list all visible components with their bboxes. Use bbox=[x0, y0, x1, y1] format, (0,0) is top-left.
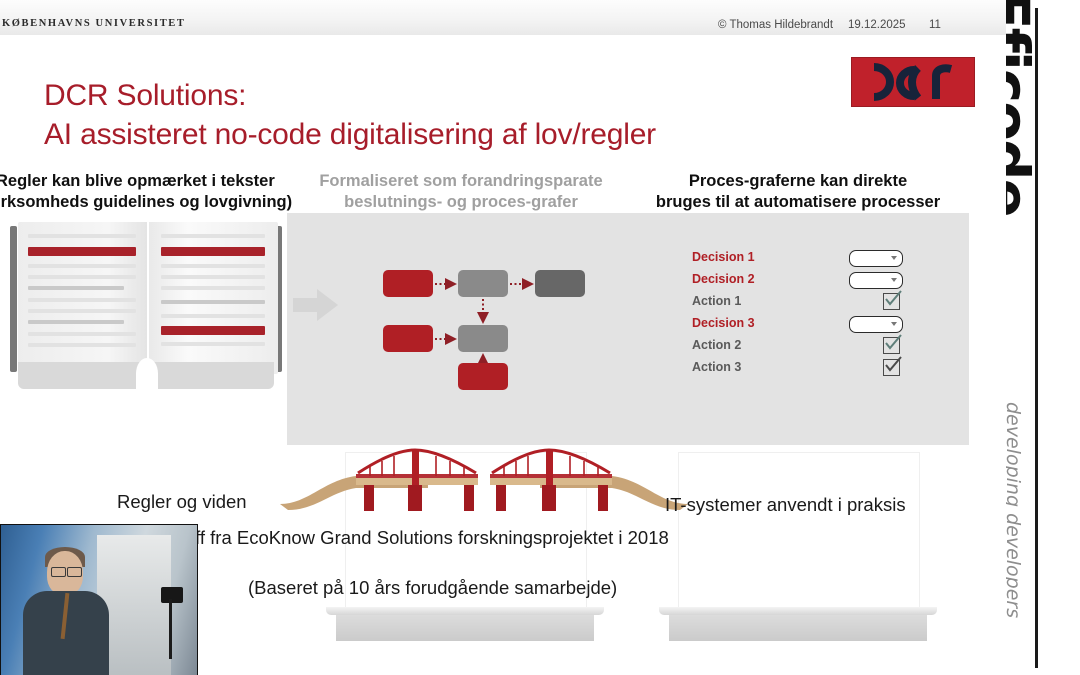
slide-canvas: KØBENHAVNS UNIVERSITET © Thomas Hildebra… bbox=[0, 0, 1006, 675]
form-label-decision-3: Decision 3 bbox=[692, 316, 755, 330]
ku-wordmark: KØBENHAVNS UNIVERSITET bbox=[2, 18, 186, 29]
dropdown-decision-3[interactable] bbox=[849, 316, 903, 333]
form-label-decision-2: Decision 2 bbox=[692, 272, 755, 286]
check-icon bbox=[883, 289, 903, 309]
camera-silhouette bbox=[161, 587, 183, 603]
rail-tagline: developing developers bbox=[1006, 402, 1024, 662]
caption-left-line2: irksomheds guidelines og lovgivning) bbox=[0, 192, 292, 213]
checkbox-action-3[interactable] bbox=[883, 359, 900, 376]
caption-right-line1: Proces-graferne kan direkte bbox=[648, 171, 948, 192]
caption-middle-line1: Formaliseret som forandringsparate bbox=[311, 171, 611, 192]
form-label-decision-1: Decision 1 bbox=[692, 250, 755, 264]
right-rail-branding: Eficode & developing developers bbox=[1006, 0, 1080, 675]
form-label-action-3: Action 3 bbox=[692, 360, 741, 374]
label-it-systems: IT-systemer anvendt i praksis bbox=[665, 494, 906, 516]
graph-node-grey-2[interactable] bbox=[458, 325, 508, 352]
slide-title: DCR Solutions: AI assisteret no-code dig… bbox=[44, 76, 844, 154]
form-label-action-2: Action 2 bbox=[692, 338, 741, 352]
caption-left: Regler kan blive opmærket i tekster irks… bbox=[0, 171, 292, 213]
book-page-left bbox=[18, 222, 147, 374]
label-spinoff: ldt spin-off fra EcoKnow Grand Solutions… bbox=[120, 527, 669, 549]
book-spine-left bbox=[10, 226, 17, 372]
dropdown-decision-1[interactable] bbox=[849, 250, 903, 267]
checkbox-action-2[interactable] bbox=[883, 337, 900, 354]
caption-right: Proces-graferne kan direkte bruges til a… bbox=[648, 171, 948, 213]
graph-node-red-3[interactable] bbox=[458, 363, 508, 390]
dropdown-decision-2[interactable] bbox=[849, 272, 903, 289]
laptop2-screen bbox=[678, 452, 920, 609]
check-icon bbox=[883, 355, 903, 375]
process-graph-diagram bbox=[363, 245, 603, 405]
caption-middle-line2: beslutnings- og proces-grafer bbox=[311, 192, 611, 213]
chevron-down-icon bbox=[891, 278, 897, 282]
chevron-down-icon bbox=[891, 256, 897, 260]
checkbox-action-1[interactable] bbox=[883, 293, 900, 310]
dcr-logo bbox=[851, 57, 975, 107]
title-line-2: AI assisteret no-code digitalisering af … bbox=[44, 115, 844, 154]
form-label-action-1: Action 1 bbox=[692, 294, 741, 308]
book-center-fold bbox=[136, 358, 158, 389]
graph-node-red-2[interactable] bbox=[383, 325, 433, 352]
label-rules-and-knowledge: Regler og viden bbox=[117, 491, 247, 513]
speaker-glasses-left bbox=[51, 567, 66, 577]
chevron-down-icon bbox=[891, 322, 897, 326]
graph-node-grey-1[interactable] bbox=[458, 270, 508, 297]
title-line-1: DCR Solutions: bbox=[44, 79, 246, 112]
caption-middle: Formaliseret som forandringsparate beslu… bbox=[311, 171, 611, 213]
header-author: © Thomas Hildebrandt bbox=[718, 19, 833, 31]
flow-arrow-icon bbox=[293, 287, 339, 323]
label-collaboration-note: (Baseret på 10 års forudgående samarbejd… bbox=[248, 577, 617, 599]
graph-node-dark-1[interactable] bbox=[535, 270, 585, 297]
laptop2-hinge bbox=[659, 607, 937, 615]
laptop1-base bbox=[336, 615, 594, 641]
speaker-video-overlay[interactable] bbox=[0, 524, 198, 675]
check-icon bbox=[883, 333, 903, 353]
caption-right-line2: bruges til at automatisere processer bbox=[648, 192, 948, 213]
book-page-right bbox=[149, 222, 278, 374]
laptop1-hinge bbox=[326, 607, 604, 615]
graph-node-red-1[interactable] bbox=[383, 270, 433, 297]
speaker-glasses-right bbox=[67, 567, 82, 577]
caption-left-line1: Regler kan blive opmærket i tekster bbox=[0, 171, 292, 192]
open-book-illustration bbox=[10, 222, 282, 389]
bridge-illustration bbox=[278, 446, 690, 516]
header-date: 19.12.2025 bbox=[848, 19, 906, 31]
laptop2-base bbox=[669, 615, 927, 641]
tripod-silhouette bbox=[169, 599, 172, 659]
header-page-number: 11 bbox=[929, 19, 941, 31]
